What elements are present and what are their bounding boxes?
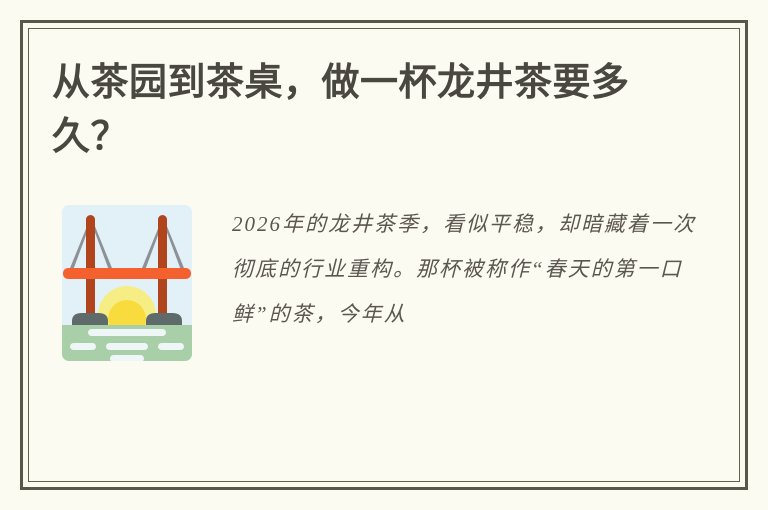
suspension-bridge-icon [62, 205, 192, 361]
article-body-text: 2026年的龙井茶季，看似平稳，却暗藏着一次彻底的行业重构。那杯被称作“春天的第… [232, 202, 702, 337]
article-body-row: 2026年的龙井茶季，看似平稳，却暗藏着一次彻底的行业重构。那杯被称作“春天的第… [52, 196, 712, 416]
bridge-illustration [62, 205, 192, 361]
page-title: 从茶园到茶桌，做一杯龙井茶要多久？ [52, 56, 672, 164]
article-card: 从茶园到茶桌，做一杯龙井茶要多久？ [0, 0, 768, 510]
